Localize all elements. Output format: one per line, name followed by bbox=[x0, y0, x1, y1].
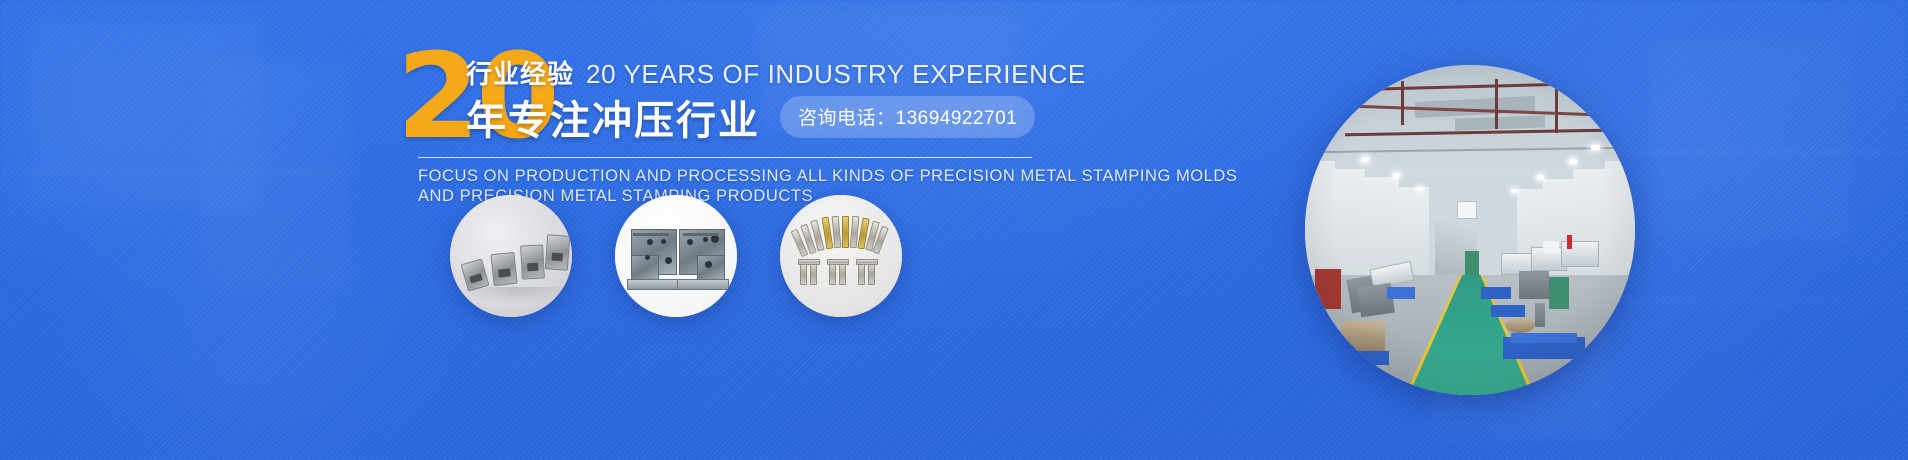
headline-line-two: 年专注冲压行业 咨询电话：13694922701 bbox=[466, 88, 1035, 146]
headline-cn-small: 行业经验 bbox=[466, 54, 574, 91]
phone-badge[interactable]: 咨询电话：13694922701 bbox=[780, 96, 1035, 138]
product-circle-terminal-pins[interactable] bbox=[780, 195, 902, 317]
product-circle-stamping-die[interactable] bbox=[615, 195, 737, 317]
headline-line-one: 行业经验 20 YEARS OF INDUSTRY EXPERIENCE bbox=[466, 54, 1086, 91]
headline-divider bbox=[418, 157, 1032, 158]
headline-english: 20 YEARS OF INDUSTRY EXPERIENCE bbox=[586, 59, 1086, 90]
promo-banner: 20 行业经验 20 YEARS OF INDUSTRY EXPERIENCE … bbox=[0, 0, 1908, 460]
headline-cn-large: 年专注冲压行业 bbox=[466, 88, 760, 146]
product-circle-usb-connectors[interactable] bbox=[450, 195, 572, 317]
subtitle-line-one: FOCUS ON PRODUCTION AND PROCESSING ALL K… bbox=[418, 166, 1118, 186]
factory-photo-circle[interactable] bbox=[1305, 65, 1635, 395]
